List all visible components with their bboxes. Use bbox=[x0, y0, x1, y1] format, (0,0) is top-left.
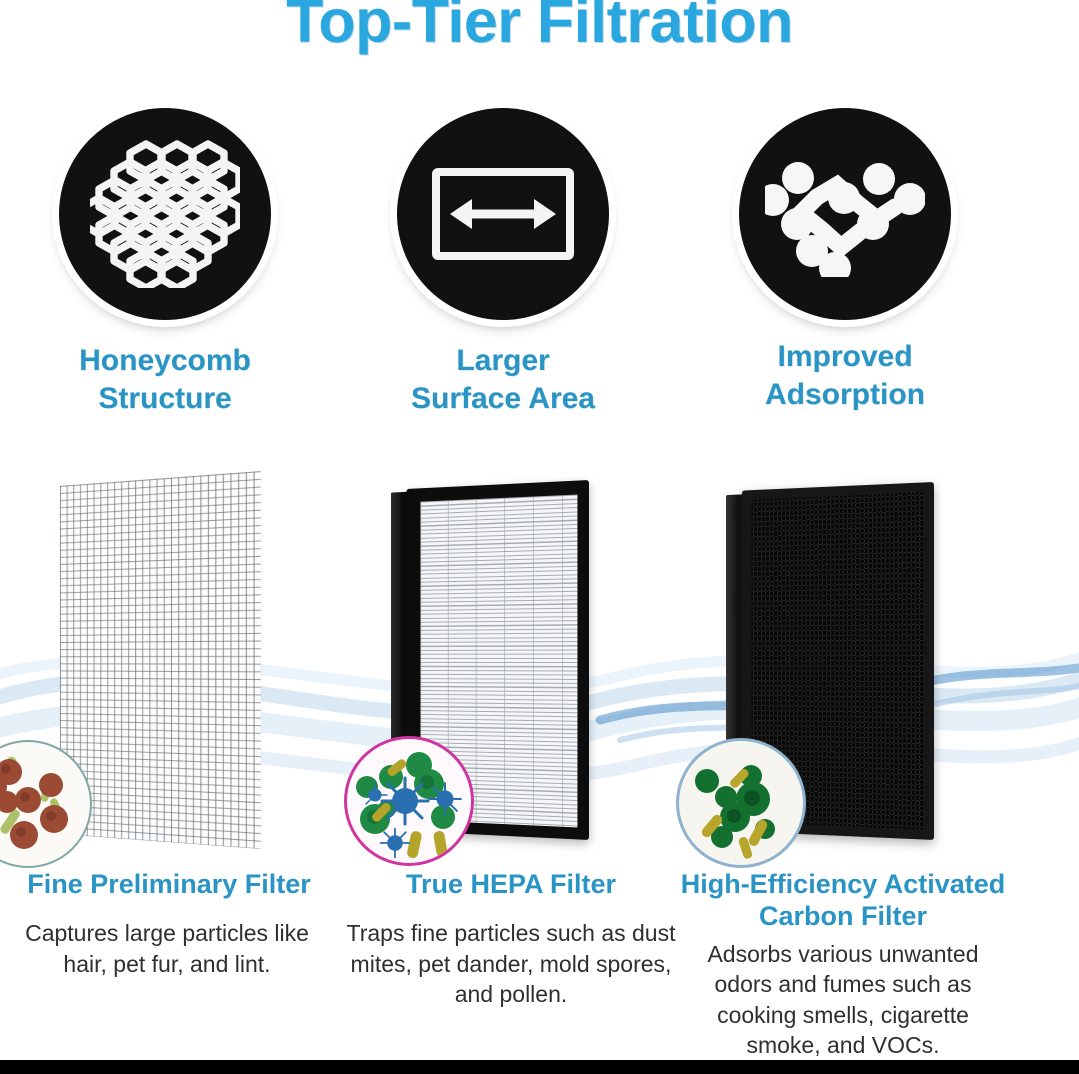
surface-area-arrow-icon bbox=[432, 168, 574, 260]
filter-true-hepa: True HEPA Filter Traps fine particles su… bbox=[336, 468, 686, 1009]
filter-activated-carbon: High-Efficiency Activated Carbon Filter … bbox=[668, 468, 1018, 1060]
microbe-illustration bbox=[347, 739, 471, 863]
honeycomb-icon bbox=[90, 140, 240, 288]
feature-label-line1: Larger bbox=[338, 342, 668, 380]
microbe-magnifier bbox=[344, 736, 474, 866]
feature-label-line2: Surface Area bbox=[338, 380, 668, 418]
feature-honeycomb-structure: Honeycomb Structure bbox=[0, 108, 330, 419]
honeycomb-icon-badge bbox=[59, 108, 271, 320]
feature-label-line2: Structure bbox=[0, 380, 330, 418]
filter-fine-preliminary: Fine Preliminary Filter Captures large p… bbox=[0, 468, 342, 979]
feature-label: Larger Surface Area bbox=[338, 342, 668, 419]
carbon-panel-art bbox=[668, 468, 1018, 868]
feature-label-line1: Honeycomb bbox=[0, 342, 330, 380]
adsorption-icon-badge bbox=[739, 108, 951, 320]
filter-title: Fine Preliminary Filter bbox=[0, 868, 342, 900]
feature-label: Honeycomb Structure bbox=[0, 342, 330, 419]
filter-row: Fine Preliminary Filter Captures large p… bbox=[0, 468, 1079, 1074]
page-title: Top-Tier Filtration bbox=[0, 0, 1079, 56]
feature-larger-surface-area: Larger Surface Area bbox=[338, 108, 668, 419]
filter-description: Captures large particles like hair, pet … bbox=[0, 918, 342, 979]
odor-molecule-magnifier bbox=[676, 738, 806, 868]
feature-row: Honeycomb Structure Larger Surface Area bbox=[0, 108, 1079, 448]
feature-label-line1: Improved bbox=[680, 338, 1010, 376]
filter-title: True HEPA Filter bbox=[336, 868, 686, 900]
bottom-black-bar bbox=[0, 1060, 1079, 1074]
filter-description: Traps fine particles such as dust mites,… bbox=[336, 918, 686, 1009]
feature-improved-adsorption: Improved Adsorption bbox=[680, 108, 1010, 415]
hepa-panel-art bbox=[336, 468, 686, 868]
filter-title: High-Efficiency Activated Carbon Filter bbox=[668, 868, 1018, 933]
feature-label: Improved Adsorption bbox=[680, 338, 1010, 415]
infographic-root: Top-Tier Filtration bbox=[0, 0, 1079, 1074]
surface-area-icon-badge bbox=[397, 108, 609, 320]
filter-description: Adsorbs various unwanted odors and fumes… bbox=[668, 939, 1018, 1060]
odor-molecule-illustration bbox=[679, 741, 803, 865]
molecule-adsorption-icon bbox=[765, 151, 925, 277]
fine-mesh-screen-art bbox=[0, 468, 342, 868]
feature-label-line2: Adsorption bbox=[680, 376, 1010, 414]
